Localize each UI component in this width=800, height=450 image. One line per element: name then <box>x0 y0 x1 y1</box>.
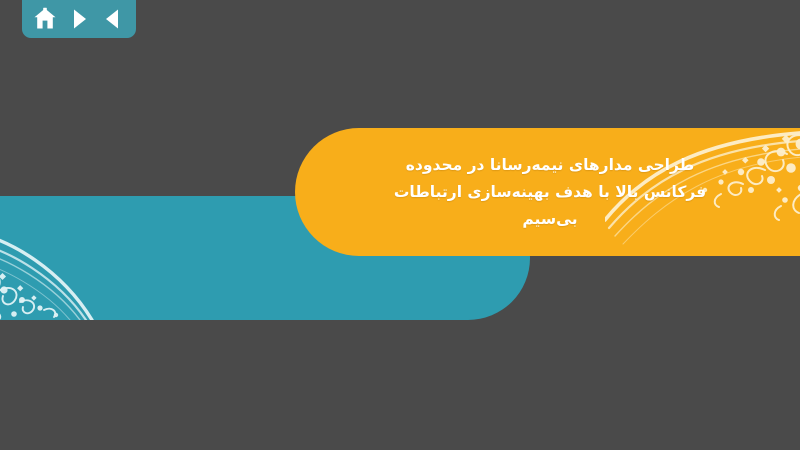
home-button[interactable] <box>31 5 59 33</box>
previous-button[interactable] <box>99 5 127 33</box>
slide-canvas: طراحی مدارهای نیمه‌رسانا در محدوده فرکان… <box>0 0 800 450</box>
navigation-bar <box>22 0 136 38</box>
home-icon <box>33 7 57 31</box>
arabesque-corner-ornament <box>0 196 150 320</box>
arabesque-corner-ornament <box>605 128 800 256</box>
triangle-left-icon <box>103 8 123 30</box>
triangle-right-icon <box>69 8 89 30</box>
orange-title-panel <box>295 128 800 256</box>
next-button[interactable] <box>65 5 93 33</box>
